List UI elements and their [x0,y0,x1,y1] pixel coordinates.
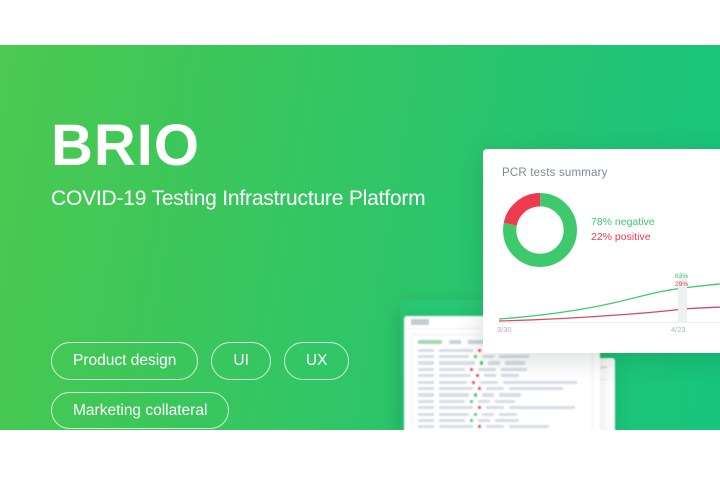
tag-row-primary: Product design UI UX [51,342,381,380]
trend-annotation-negative: 63% [675,273,688,280]
tag-marketing-collateral[interactable]: Marketing collateral [51,392,229,430]
legend-negative: 78% negative [591,215,655,230]
table-row [418,424,586,430]
axis-tick-start: 3/30 [497,325,512,334]
trend-axis-line [497,322,720,323]
donut-chart-svg [500,190,580,270]
hero-gradient-band: BRIO COVID-19 Testing Infrastructure Pla… [0,45,720,430]
pcr-trend-chart: 63% 29% 3/30 4/23 [497,275,720,337]
page-title: BRIO [51,117,425,175]
tag-row-secondary: Marketing collateral [51,392,381,430]
card-title: PCR tests summary [502,167,608,179]
pcr-tests-summary-card: PCR tests summary 78% negative 22% posit… [483,149,720,353]
tag-ux[interactable]: UX [284,342,350,380]
legend-positive: 22% positive [591,230,655,245]
page-subtitle: COVID-19 Testing Infrastructure Platform [51,187,425,211]
mockup-brand-logo [411,319,429,325]
axis-tick-end: 4/23 [671,325,686,334]
pcr-donut-chart [500,190,580,270]
pcr-legend: 78% negative 22% positive [591,215,655,245]
tag-product-design[interactable]: Product design [51,342,198,380]
mockup-table-body [412,347,592,430]
trend-annotation-positive: 29% [675,281,688,288]
tag-ui[interactable]: UI [211,342,271,380]
tag-list: Product design UI UX Marketing collatera… [51,342,381,429]
poster-canvas: BRIO COVID-19 Testing Infrastructure Pla… [0,0,720,480]
headline-block: BRIO COVID-19 Testing Infrastructure Pla… [51,117,425,211]
